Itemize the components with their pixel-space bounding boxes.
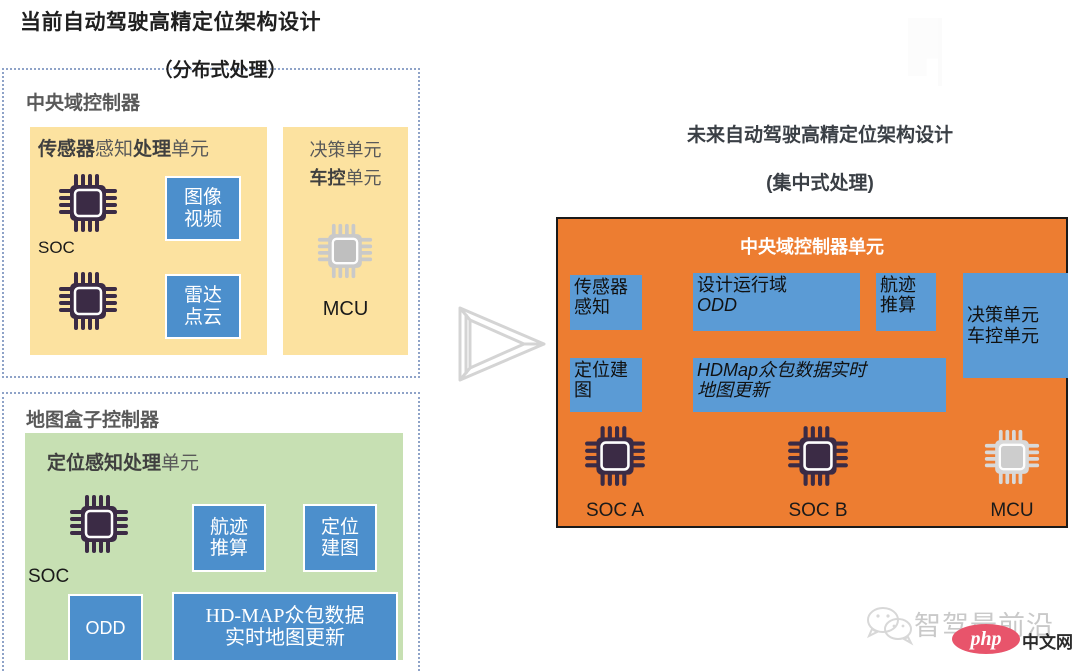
vehicle-control-label-part1: 车控	[310, 168, 346, 188]
soc-chip-icon-1	[57, 172, 119, 234]
localization-mapping-tile-label: 定位建图	[574, 360, 628, 400]
central-controller-heading: 中央域控制器	[26, 88, 140, 115]
image-video-box[interactable]: 图像视频	[165, 176, 241, 241]
slide-canvas: 当前自动驾驶高精定位架构设计 （分布式处理） 中央域控制器 传感器感知处理单元 …	[0, 0, 1080, 671]
sensor-perception-tile-label: 传感器感知	[574, 277, 628, 317]
vehicle-control-unit-label: 车控单元	[283, 164, 408, 190]
faint-flag-watermark	[908, 18, 942, 76]
sensor-unit-label-part1: 传感器	[38, 139, 95, 160]
soc-chip-icon-2	[57, 270, 119, 332]
soc-a-chip-icon	[583, 424, 647, 488]
watermark: 智驾最前沿 php 中文网	[866, 598, 1076, 660]
sensor-perception-tile[interactable]: 传感器感知	[570, 275, 642, 330]
transition-arrow-icon	[452, 296, 552, 397]
radar-pointcloud-box-label: 雷达点云	[184, 285, 222, 328]
localization-mapping-box[interactable]: 定位建图	[303, 504, 377, 572]
vehicle-control-label-part2: 单元	[346, 168, 382, 188]
dead-reckoning-tile-label: 航迹推算	[880, 275, 916, 315]
decision-vehicle-control-tile-label: 决策单元车控单元	[967, 305, 1039, 345]
soc-a-chip-caption: SOC A	[565, 500, 665, 522]
soc-b-chip-icon	[786, 424, 850, 488]
localization-mapping-tile[interactable]: 定位建图	[570, 358, 642, 412]
sensor-unit-label-part2: 感知	[95, 139, 133, 160]
hdmap-tile-label: HDMap众包数据实时地图更新	[697, 360, 866, 400]
wechat-icon	[866, 606, 914, 646]
soc-chip-icon-3	[68, 493, 130, 555]
hdmap-box-label: HD-MAP众包数据实时地图更新	[206, 605, 365, 650]
mcu-chip-icon-right	[983, 428, 1041, 486]
localization-unit-label-part1: 定位感知处理	[47, 453, 161, 474]
mcu-chip-caption-right: MCU	[962, 500, 1062, 522]
soc-b-chip-caption: SOC B	[768, 500, 868, 522]
radar-pointcloud-box[interactable]: 雷达点云	[165, 274, 241, 339]
odd-tile[interactable]: 设计运行域ODD	[693, 273, 860, 331]
localization-unit-label-part2: 单元	[161, 453, 199, 474]
php-logo-suffix: 中文网	[1022, 628, 1073, 653]
mcu-chip-caption-left: MCU	[283, 298, 408, 321]
map-box-controller-heading: 地图盒子控制器	[26, 405, 159, 432]
image-video-box-label: 图像视频	[184, 187, 222, 230]
central-domain-controller-unit-heading: 中央域控制器单元	[556, 233, 1068, 259]
soc-chip-caption-1: SOC	[38, 238, 75, 258]
right-subtitle: (集中式处理)	[600, 168, 1040, 195]
right-title: 未来自动驾驶高精定位架构设计	[600, 120, 1040, 147]
mcu-chip-icon-left	[316, 222, 374, 280]
sensor-processing-unit-label: 传感器感知处理单元	[38, 134, 268, 161]
left-title: 当前自动驾驶高精定位架构设计	[20, 6, 420, 36]
sensor-unit-label-part4: 单元	[171, 139, 209, 160]
hdmap-box[interactable]: HD-MAP众包数据实时地图更新	[172, 592, 398, 662]
left-subtitle: （分布式处理）	[20, 55, 420, 82]
dead-reckoning-box[interactable]: 航迹推算	[192, 504, 266, 572]
decision-unit-label: 决策单元	[283, 136, 408, 162]
faint-flag-pole-watermark	[938, 18, 942, 86]
sensor-unit-label-part3: 处理	[133, 139, 171, 160]
odd-box-label: ODD	[86, 618, 126, 638]
localization-unit-label: 定位感知处理单元	[47, 448, 199, 475]
decision-vehicle-control-tile[interactable]: 决策单元车控单元	[963, 273, 1068, 378]
hdmap-tile[interactable]: HDMap众包数据实时地图更新	[693, 358, 946, 412]
odd-tile-label: 设计运行域ODD	[697, 275, 787, 315]
odd-box[interactable]: ODD	[68, 594, 143, 662]
soc-chip-caption-3: SOC	[28, 566, 69, 588]
php-logo-badge: php	[952, 624, 1020, 654]
localization-mapping-box-label: 定位建图	[321, 517, 359, 560]
dead-reckoning-tile[interactable]: 航迹推算	[876, 273, 936, 331]
dead-reckoning-box-label: 航迹推算	[210, 517, 248, 560]
